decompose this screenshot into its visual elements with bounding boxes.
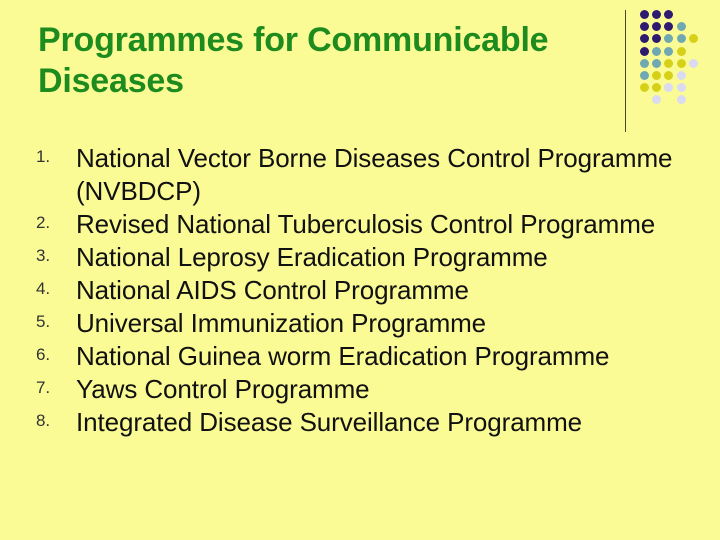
grid-dot-yellow [652, 83, 661, 92]
grid-dot-purple [652, 34, 661, 43]
list-item-label: Integrated Disease Surveillance Programm… [76, 406, 700, 439]
list-item-marker: 3. [0, 245, 50, 267]
list-item-marker: 8. [0, 410, 50, 432]
list-item: 1.National Vector Borne Diseases Control… [0, 142, 700, 208]
grid-dot-yellow [677, 47, 686, 56]
grid-dot-purple [640, 47, 649, 56]
title-block: Programmes for Communicable Diseases [38, 20, 608, 102]
grid-dot-lavender [689, 59, 698, 68]
grid-dot-purple [652, 22, 661, 31]
grid-dot-purple [640, 34, 649, 43]
list-item: 3.National Leprosy Eradication Programme [0, 241, 700, 274]
grid-dot-lavender [677, 95, 686, 104]
header-divider [625, 10, 626, 132]
grid-dot-teal [652, 59, 661, 68]
grid-dot-teal [664, 34, 673, 43]
grid-dot-teal [677, 22, 686, 31]
list-item-label: Revised National Tuberculosis Control Pr… [76, 208, 700, 241]
grid-dot-teal [664, 47, 673, 56]
list-item-label: National Guinea worm Eradication Program… [76, 340, 700, 373]
grid-dot-lavender [677, 83, 686, 92]
list-item-label: Universal Immunization Programme [76, 307, 700, 340]
list-item-marker: 2. [0, 212, 50, 234]
list-item: 2.Revised National Tuberculosis Control … [0, 208, 700, 241]
page-title: Programmes for Communicable Diseases [38, 20, 608, 102]
grid-dot-yellow [689, 34, 698, 43]
list-item-label: National AIDS Control Programme [76, 274, 700, 307]
grid-dot-teal [640, 59, 649, 68]
grid-dot-purple [664, 22, 673, 31]
slide-canvas: Programmes for Communicable Diseases 1.N… [0, 0, 720, 540]
grid-dot-teal [677, 34, 686, 43]
programme-list: 1.National Vector Borne Diseases Control… [0, 142, 700, 439]
grid-dot-purple [640, 22, 649, 31]
list-item: 6.National Guinea worm Eradication Progr… [0, 340, 700, 373]
list-item-marker: 7. [0, 377, 50, 399]
list-item-marker: 6. [0, 344, 50, 366]
list-item-label: National Vector Borne Diseases Control P… [76, 142, 700, 208]
grid-dot-teal [640, 71, 649, 80]
grid-dot-teal [652, 47, 661, 56]
list-item-marker: 4. [0, 278, 50, 300]
grid-dot-yellow [652, 71, 661, 80]
grid-dot-lavender [664, 83, 673, 92]
list-item-label: Yaws Control Programme [76, 373, 700, 406]
grid-dot-yellow [677, 59, 686, 68]
list-item: 5.Universal Immunization Programme [0, 307, 700, 340]
grid-dot-yellow [664, 71, 673, 80]
dot-grid-decoration-icon [640, 10, 714, 120]
list-item-label: National Leprosy Eradication Programme [76, 241, 700, 274]
grid-dot-lavender [652, 95, 661, 104]
list-item: 8.Integrated Disease Surveillance Progra… [0, 406, 700, 439]
grid-dot-yellow [664, 59, 673, 68]
grid-dot-yellow [640, 83, 649, 92]
grid-dot-purple [664, 10, 673, 19]
grid-dot-lavender [677, 71, 686, 80]
list-item: 7.Yaws Control Programme [0, 373, 700, 406]
grid-dot-purple [640, 10, 649, 19]
grid-dot-purple [652, 10, 661, 19]
list-item-marker: 1. [0, 146, 50, 168]
list-item: 4.National AIDS Control Programme [0, 274, 700, 307]
list-item-marker: 5. [0, 311, 50, 333]
